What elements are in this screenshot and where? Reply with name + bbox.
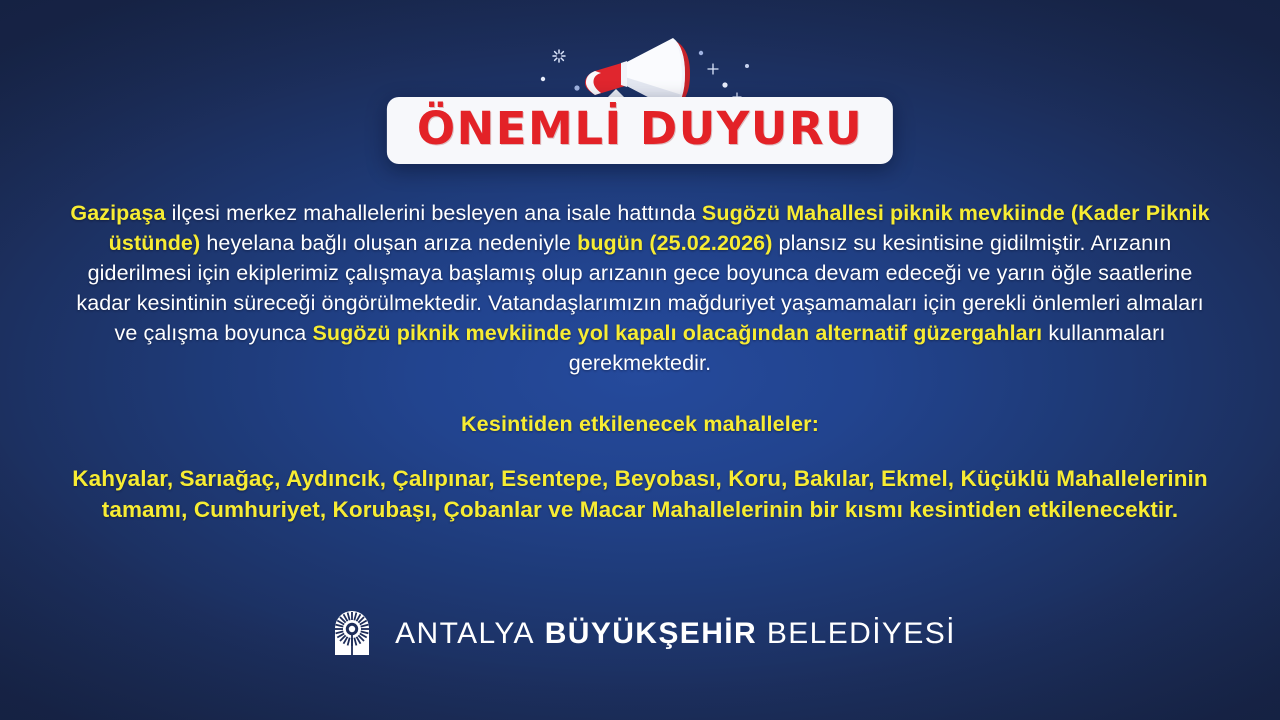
paragraph-text: ilçesi merkez mahallelerini besleyen ana… [166,201,702,225]
paragraph-highlight: Sugözü piknik mevkiinde yol kapalı olaca… [312,321,1042,345]
poster-header: ÖNEMLİ DUYURU [0,0,1280,170]
poster-body: Gazipaşa ilçesi merkez mahallelerini bes… [70,198,1210,525]
municipality-wordmark: ANTALYA BÜYÜKŞEHİR BELEDİYESİ [395,619,956,649]
logo-city: ANTALYA [395,617,535,650]
logo-metropolitan: BÜYÜKŞEHİR [545,617,757,650]
title-plate: ÖNEMLİ DUYURU [387,97,893,164]
page-title: ÖNEMLİ DUYURU [417,106,863,151]
paragraph-highlight: Gazipaşa [70,201,165,225]
paragraph-text: heyelana bağlı oluşan arıza nedeniyle [200,231,577,255]
announcement-poster: ÖNEMLİ DUYURU Gazipaşa ilçesi merkez mah… [0,0,1280,720]
announcement-paragraph: Gazipaşa ilçesi merkez mahallelerini bes… [70,198,1210,378]
antalya-arch-sun-logo-icon [324,603,380,664]
affected-neighbourhoods-list: Kahyalar, Sarıağaç, Aydıncık, Çalıpınar,… [70,463,1210,525]
affected-section-title: Kesintiden etkilenecek mahalleler: [70,412,1210,437]
logo-municipality: BELEDİYESİ [767,617,956,650]
municipality-footer: ANTALYA BÜYÜKŞEHİR BELEDİYESİ [0,603,1280,664]
paragraph-highlight: bugün (25.02.2026) [577,231,772,255]
